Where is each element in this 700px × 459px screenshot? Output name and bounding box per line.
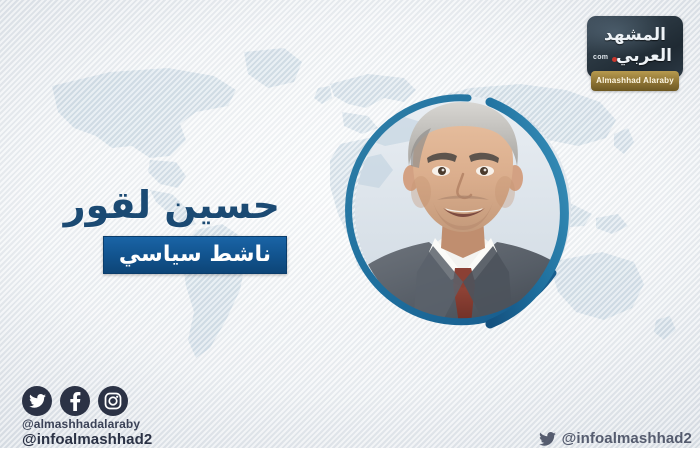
social-icons-row — [22, 386, 128, 416]
facebook-f-glyph — [70, 392, 81, 411]
logo-dot-icon — [612, 57, 617, 62]
twitter-bird-icon — [539, 432, 556, 446]
person-name: حسين لقور — [0, 186, 300, 224]
logo-ribbon-label: Almashhad Alaraby — [591, 71, 679, 91]
instagram-icon[interactable] — [98, 386, 128, 416]
corner-twitter-handle[interactable]: @infoalmashhad2 — [539, 430, 692, 447]
decorative-ring — [340, 88, 590, 338]
instagram-camera-glyph — [104, 392, 122, 410]
social-media-card: المشهد العربي com Almashhad Alaraby — [0, 0, 700, 459]
logo-arabic-line-1: المشهد — [587, 27, 683, 44]
twitter-bird-glyph — [29, 394, 46, 408]
social-handle-secondary[interactable]: @infoalmashhad2 — [22, 431, 152, 448]
logo-ribbon: Almashhad Alaraby — [591, 71, 679, 91]
corner-handle-label: @infoalmashhad2 — [562, 430, 692, 447]
person-title-badge: ناشط سياسي — [103, 236, 287, 274]
bottom-white-strip — [0, 448, 700, 459]
twitter-icon[interactable] — [22, 386, 52, 416]
channel-logo[interactable]: المشهد العربي com Almashhad Alaraby — [587, 16, 683, 96]
logo-com-label: com — [593, 54, 608, 61]
portrait-container — [340, 88, 590, 338]
social-handle-primary[interactable]: @almashhadalaraby — [22, 417, 140, 431]
person-title-badge-label: ناشط سياسي — [104, 237, 286, 273]
facebook-icon[interactable] — [60, 386, 90, 416]
logo-plate: المشهد العربي com — [587, 16, 683, 78]
